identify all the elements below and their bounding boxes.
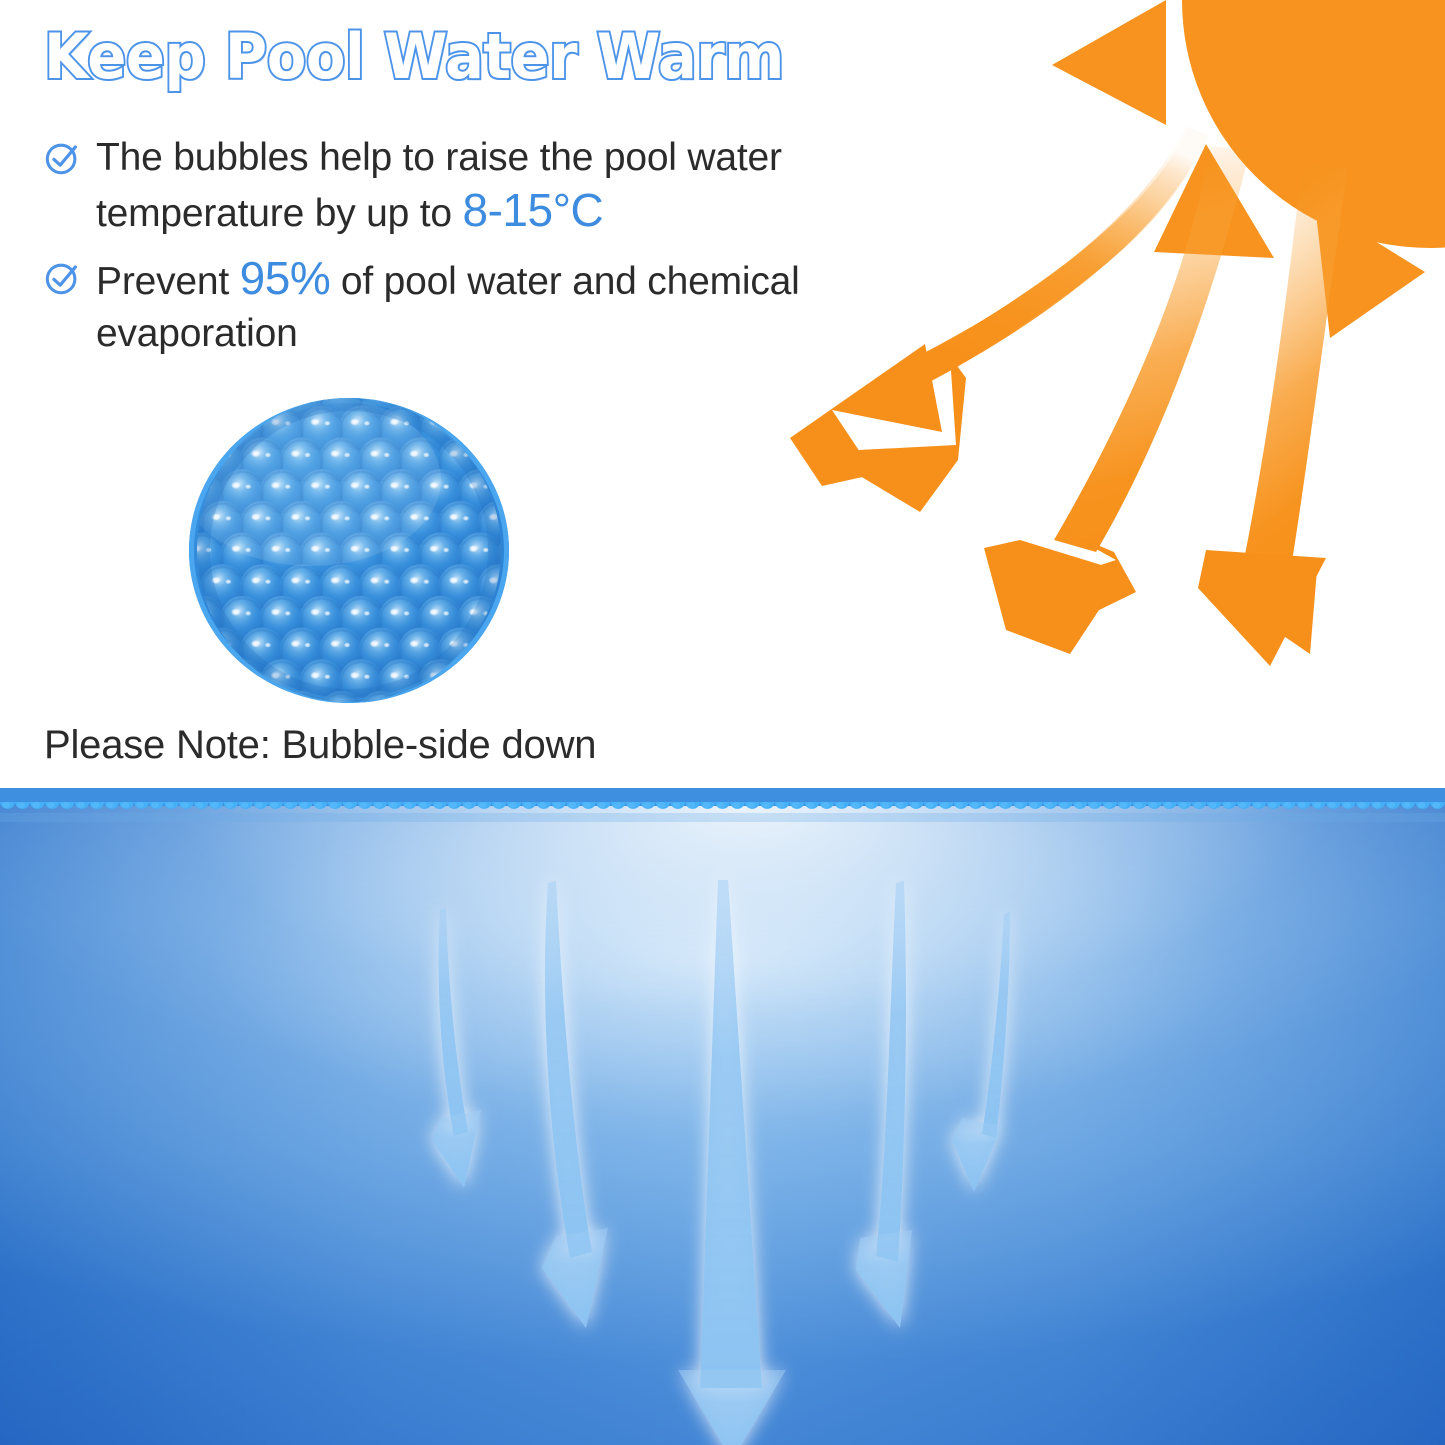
bullet-1-lead: The bubbles help to raise the pool water… [96,136,782,235]
infographic-canvas: Keep Pool Water Warm The bubbles help to… [0,0,1445,1445]
bullet-2-lead: Prevent [96,260,240,303]
benefit-bullet-text: Prevent 95% of pool water and chemical e… [96,252,944,360]
page-title: Keep Pool Water Warm [44,24,784,89]
heat-transfer-arrows [0,788,1445,1445]
bullet-2-value: 95% [240,252,331,304]
info-panel: Keep Pool Water Warm The bubbles help to… [0,0,1445,790]
bubble-film-disc [189,398,509,703]
sun-beam-right [1198,164,1348,666]
benefit-bullet-temperature: The bubbles help to raise the pool water… [44,132,944,240]
check-circle-icon [44,139,82,177]
bubble-pattern [189,398,509,703]
benefit-bullet-evaporation: Prevent 95% of pool water and chemical e… [44,252,944,360]
heat-arrow-5 [952,912,1010,1192]
heat-arrow-4 [856,881,912,1328]
please-note-label: Please Note: Bubble-side down [44,723,596,768]
pool-water-section [0,788,1445,1445]
heat-arrow-2 [542,881,608,1328]
heat-arrow-1 [432,908,481,1188]
solar-cover-swatch [189,398,509,703]
sun-rays [1052,0,1445,338]
bullet-1-value: 8-15°C [463,184,604,236]
sun-disc [1182,0,1445,248]
heat-arrow-3 [678,880,786,1445]
benefit-bullet-text: The bubbles help to raise the pool water… [96,132,944,240]
check-circle-icon [44,259,82,297]
sun-beam-center [984,146,1250,654]
